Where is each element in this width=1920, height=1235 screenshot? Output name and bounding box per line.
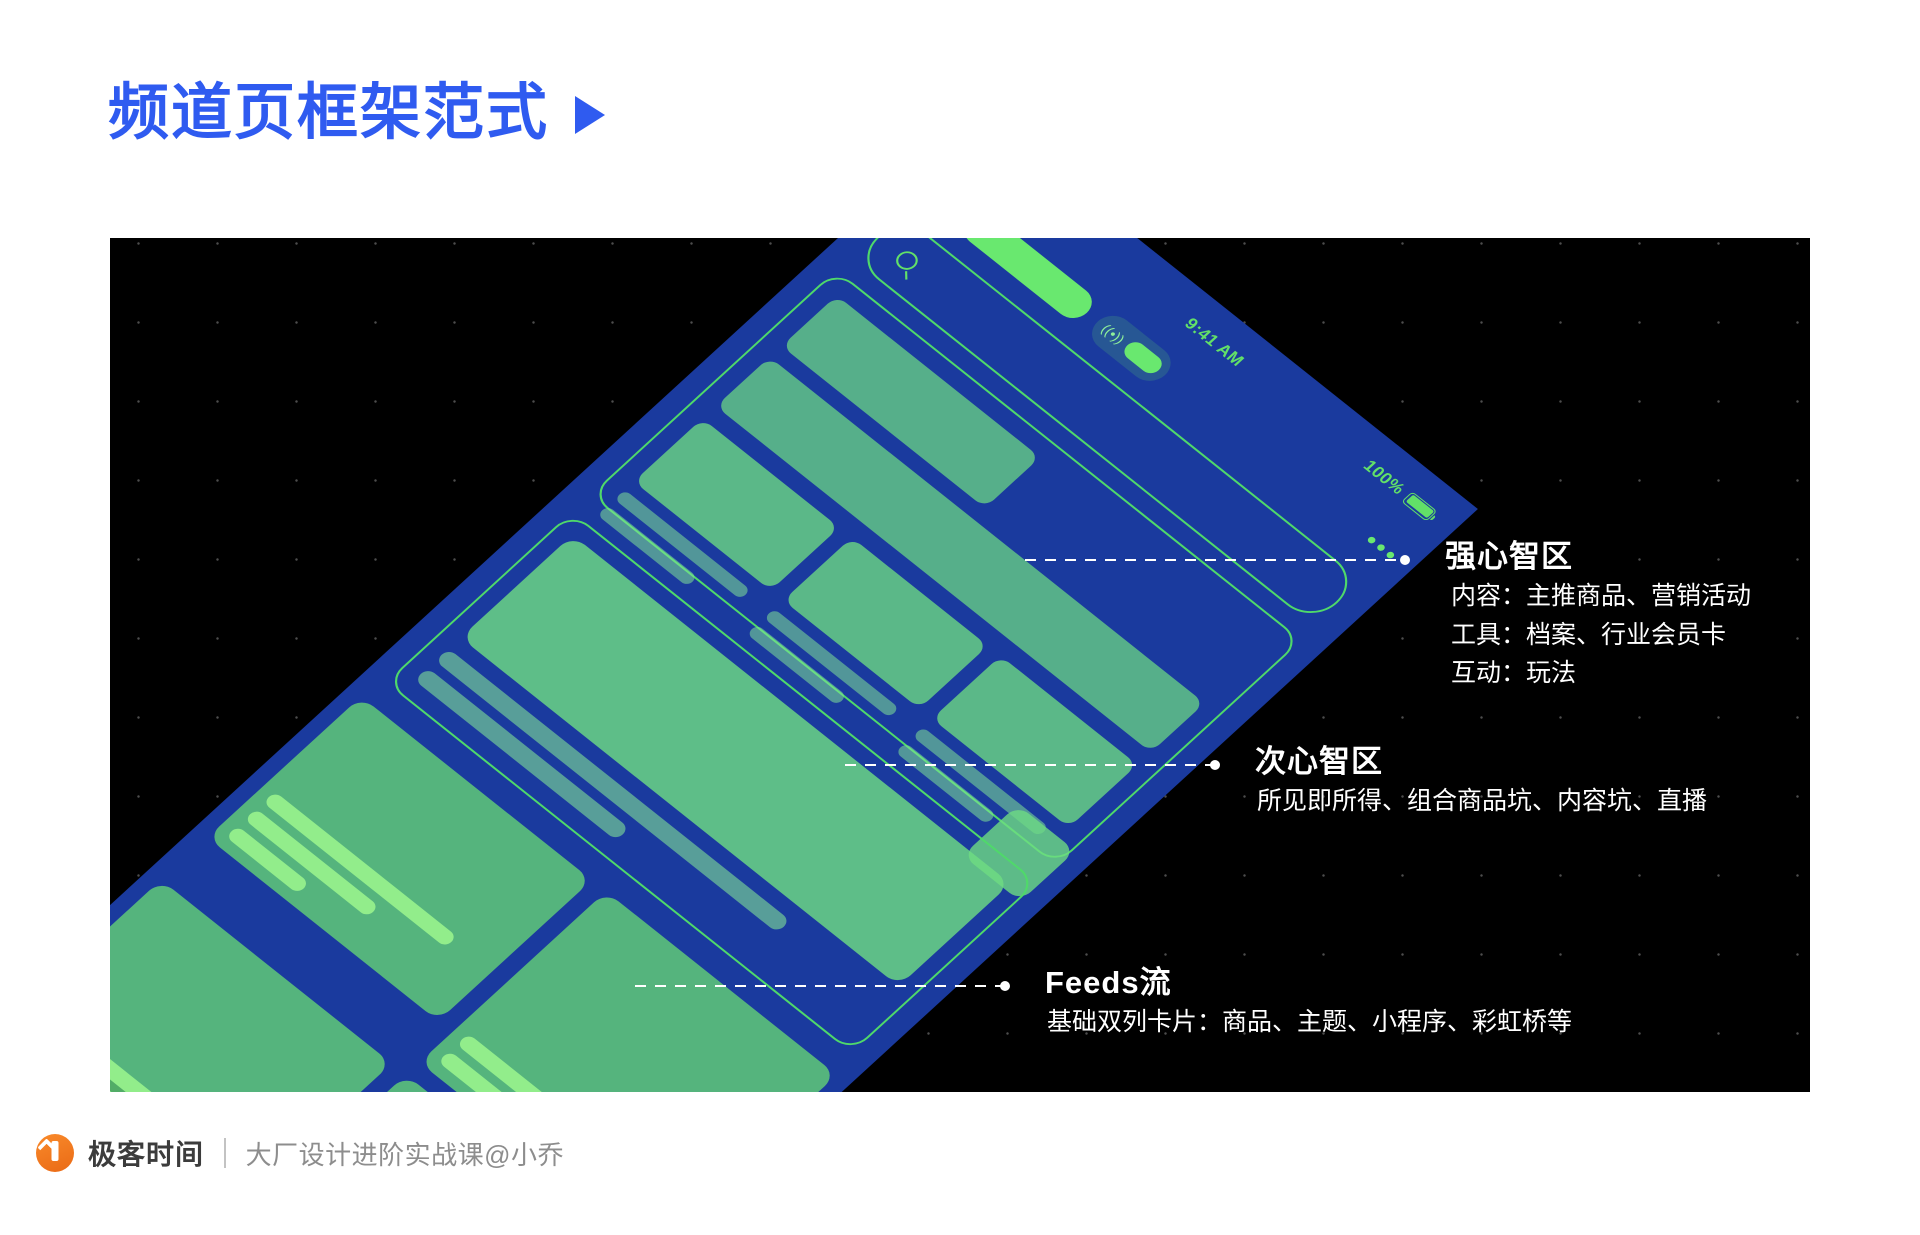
leader-line-feeds (635, 985, 1005, 987)
annotation-heading: Feeds流 (1045, 964, 1572, 1003)
annotation-line: 互动：玩法 (1451, 654, 1751, 693)
footer-course: 大厂设计进阶实战课@小乔 (246, 1135, 564, 1172)
annotation-second-mind: 次心智区 所见即所得、组合商品坑、内容坑、直播 (1255, 743, 1707, 821)
play-triangle-icon (575, 96, 605, 134)
leader-line-strong-mind (1025, 559, 1405, 561)
annotation-line: 基础双列卡片：商品、主题、小程序、彩虹桥等 (1047, 1003, 1572, 1042)
page-title-text: 频道页框架范式 (108, 82, 549, 143)
leader-line-second-mind (845, 764, 1215, 766)
geekbang-logo-icon (36, 1134, 74, 1172)
annotation-line: 工具：档案、行业会员卡 (1451, 616, 1751, 655)
leader-dot (1400, 555, 1410, 565)
annotation-feeds: Feeds流 基础双列卡片：商品、主题、小程序、彩虹桥等 (1045, 964, 1572, 1042)
annotation-line: 内容：主推商品、营销活动 (1451, 577, 1751, 616)
footer-brand: 极客时间 (88, 1133, 204, 1173)
page-title: 频道页框架范式 (108, 82, 605, 143)
footer-divider (224, 1138, 226, 1168)
slide-root: 频道页框架范式 CMCC ▿ 9:41 AM (0, 0, 1920, 1235)
leader-dot (1210, 760, 1220, 770)
annotation-heading: 强心智区 (1445, 538, 1751, 577)
annotation-heading: 次心智区 (1255, 743, 1707, 782)
annotation-strong-mind: 强心智区 内容：主推商品、营销活动 工具：档案、行业会员卡 互动：玩法 (1445, 538, 1751, 693)
diagram-panel: CMCC ▿ 9:41 AM 100% ‹ ((•)) (110, 238, 1810, 1092)
footer: 极客时间 大厂设计进阶实战课@小乔 (36, 1133, 564, 1173)
annotation-line: 所见即所得、组合商品坑、内容坑、直播 (1257, 782, 1707, 821)
leader-dot (1000, 981, 1010, 991)
